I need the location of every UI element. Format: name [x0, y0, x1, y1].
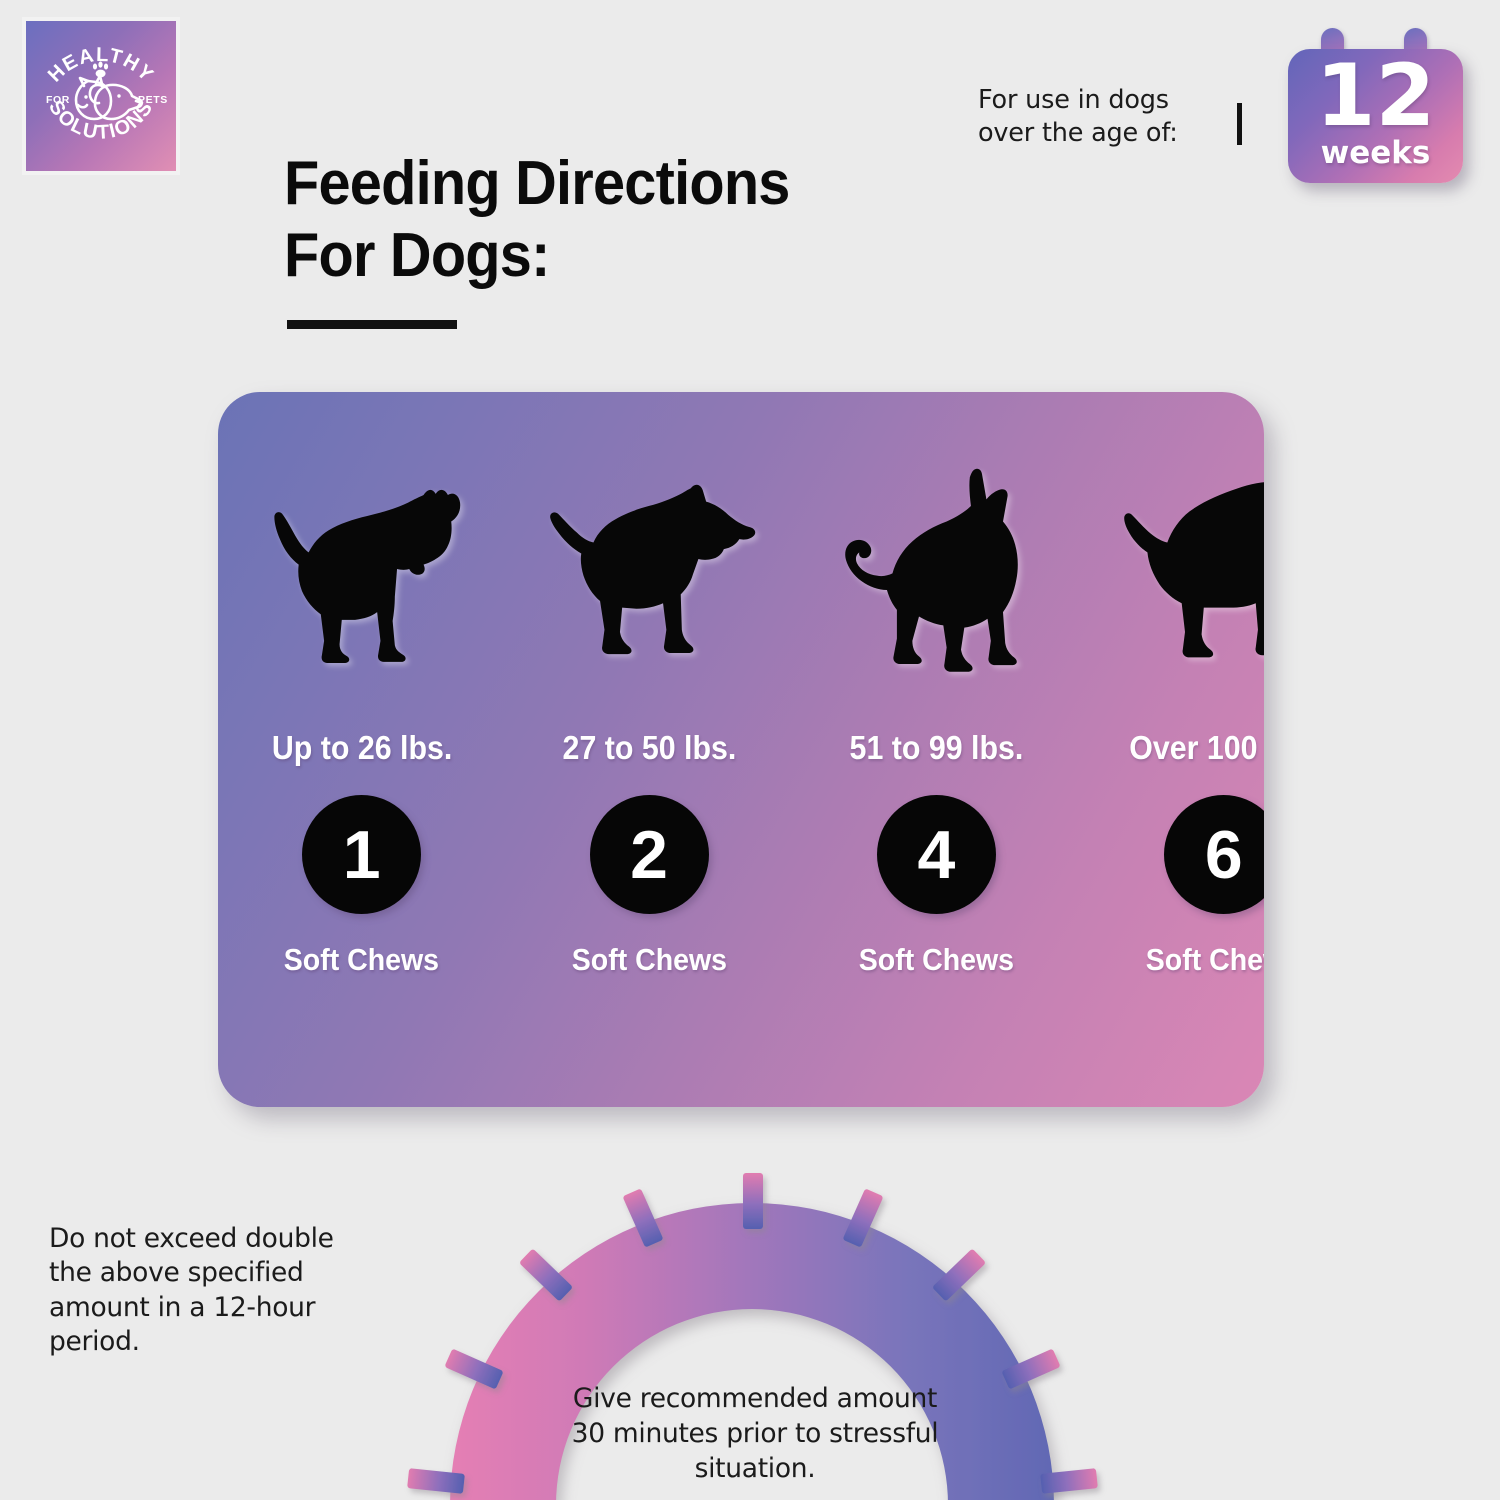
dosage-card: Up to 26 lbs. 1 Soft Chews 27 to 50 lbs.…	[218, 392, 1264, 1107]
dosage-grid: Up to 26 lbs. 1 Soft Chews 27 to 50 lbs.…	[218, 392, 1264, 1107]
chew-count-badge: 6	[1164, 795, 1264, 914]
calendar-unit: weeks	[1288, 135, 1463, 171]
dosage-column: 27 to 50 lbs. 2 Soft Chews	[505, 392, 792, 1107]
calendar-body: 12 weeks	[1288, 49, 1463, 183]
sun-ray	[743, 1173, 763, 1229]
shepherd-silhouette-icon	[793, 464, 1080, 674]
weight-label: 27 to 50 lbs.	[562, 729, 736, 767]
weight-label: 51 to 99 lbs.	[849, 729, 1023, 767]
dosage-column: Over 100 lbs. 6 Soft Chews	[1080, 392, 1264, 1107]
age-requirement-note: For use in dogs over the age of:	[978, 84, 1208, 149]
cat-head-icon	[76, 76, 111, 119]
chew-count-badge: 1	[302, 795, 421, 914]
terrier-silhouette-icon	[218, 464, 505, 674]
brand-logo-mark: HEALTHY SOLUTIONS FOR PETS	[26, 21, 176, 171]
brand-logo: HEALTHY SOLUTIONS FOR PETS	[22, 17, 180, 175]
calendar-icon: 12 weeks	[1288, 28, 1463, 183]
pitbull-silhouette-icon	[505, 464, 792, 674]
chew-count-badge: 4	[877, 795, 996, 914]
chew-unit-label: Soft Chews	[284, 942, 439, 978]
chew-count-badge: 2	[590, 795, 709, 914]
chew-unit-label: Soft Chews	[1146, 942, 1264, 978]
dosage-column: 51 to 99 lbs. 4 Soft Chews	[793, 392, 1080, 1107]
header-divider	[1237, 103, 1242, 145]
mastiff-silhouette-icon	[1080, 464, 1264, 674]
timing-note: Give recommended amount 30 minutes prior…	[565, 1381, 945, 1487]
warning-note: Do not exceed double the above specified…	[49, 1222, 359, 1360]
weight-label: Over 100 lbs.	[1129, 729, 1264, 767]
title-underline-rule	[287, 320, 457, 329]
weight-label: Up to 26 lbs.	[271, 729, 452, 767]
calendar-number: 12	[1288, 53, 1463, 139]
page-title: Feeding Directions For Dogs:	[284, 148, 935, 292]
dosage-column: Up to 26 lbs. 1 Soft Chews	[218, 392, 505, 1107]
chew-unit-label: Soft Chews	[859, 942, 1014, 978]
feeding-directions-infographic: HEALTHY SOLUTIONS FOR PETS	[0, 0, 1500, 1500]
logo-left-text: FOR	[46, 94, 70, 106]
chew-unit-label: Soft Chews	[571, 942, 726, 978]
